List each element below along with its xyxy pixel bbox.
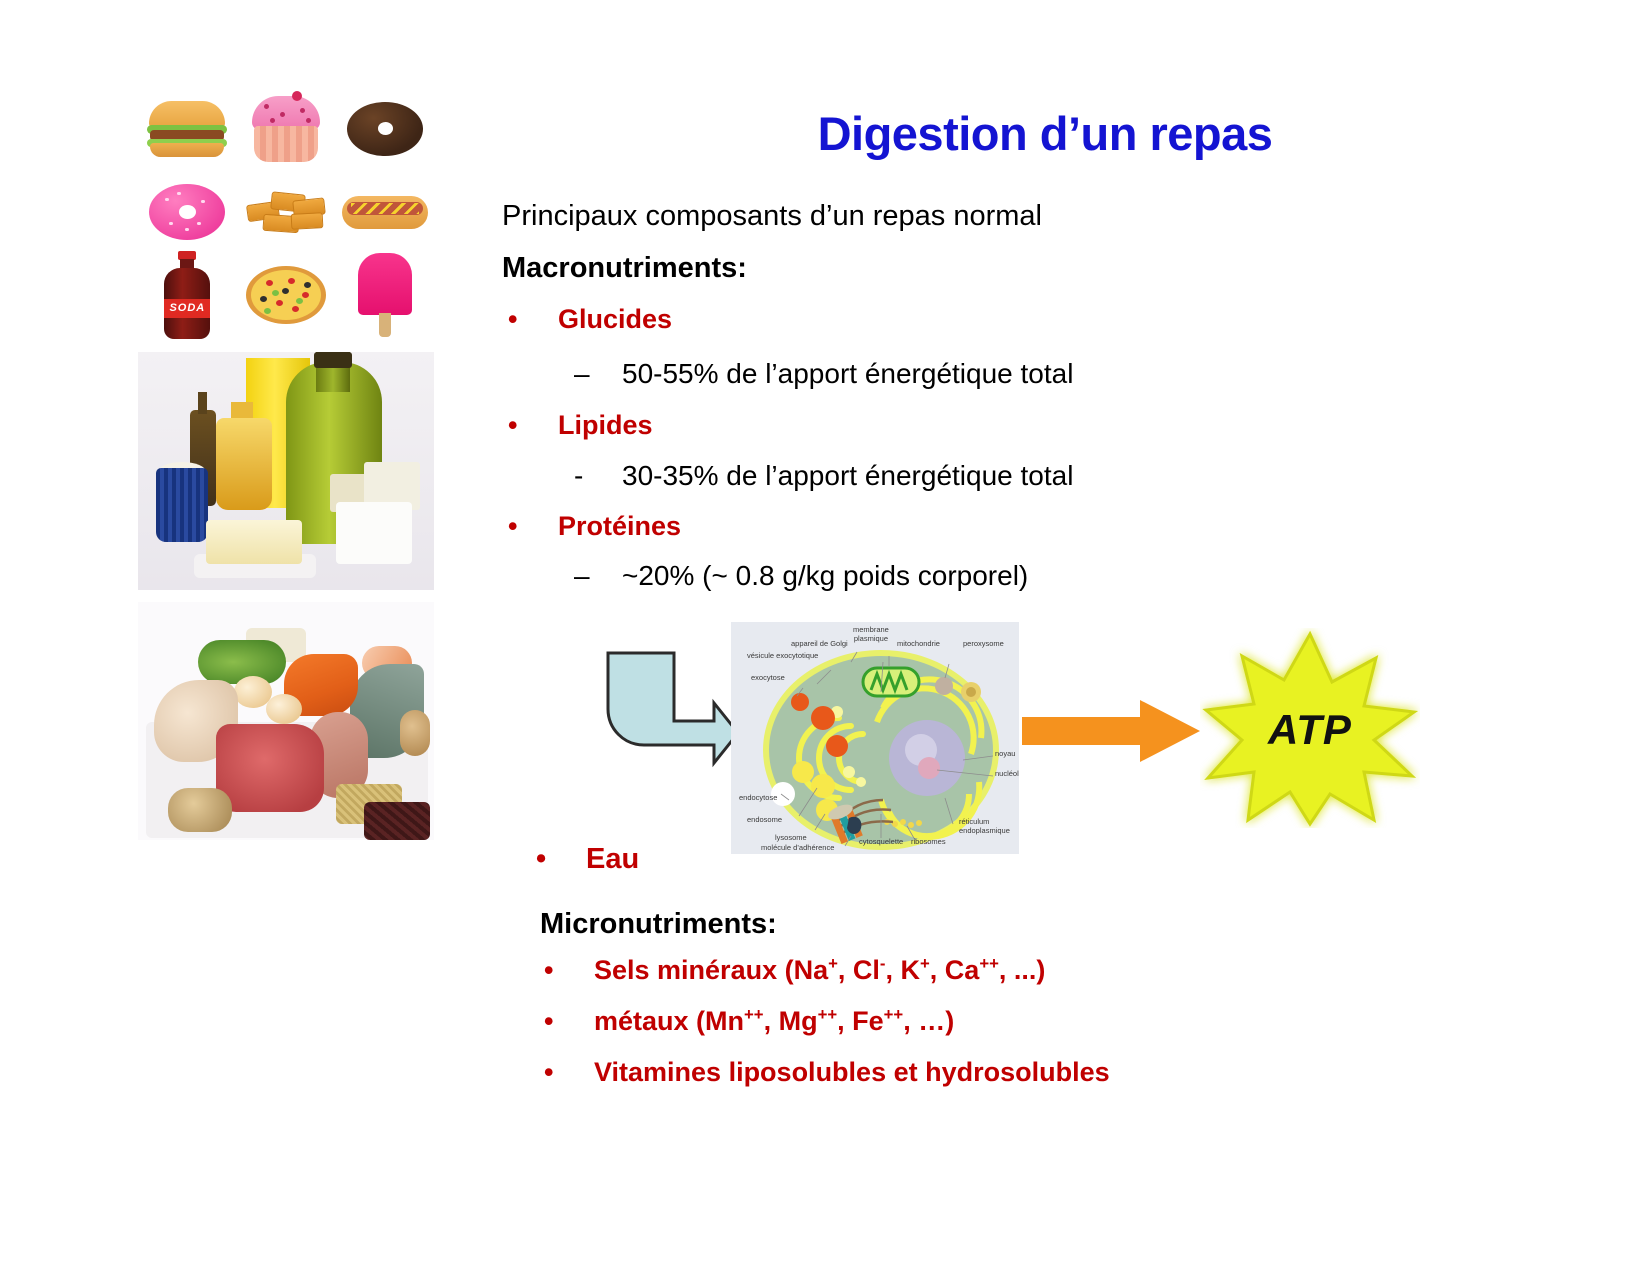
bullet-eau: • Eau xyxy=(586,843,639,876)
pizza-icon xyxy=(237,253,336,336)
right-arrow-icon xyxy=(1022,700,1200,762)
bullet-proteines: • Protéines xyxy=(558,511,681,542)
subtitle: Principaux composants d’un repas normal xyxy=(502,200,1042,233)
detail-glucides: – 50-55% de l’apport énergétique total xyxy=(622,358,1073,390)
eukaryotic-cell-diagram: membrane plasmique appareil de Golgi mit… xyxy=(731,622,1019,854)
cell-label-golgi: appareil de Golgi xyxy=(791,640,848,649)
detail-proteines: – ~20% (~ 0.8 g/kg poids corporel) xyxy=(622,560,1028,592)
dash-icon: – xyxy=(574,560,590,592)
cell-label-cytosquelette: cytosquelette xyxy=(859,838,903,847)
dash-icon: – xyxy=(574,358,590,390)
bullet-metaux-label: métaux (Mn++, Mg++, Fe++, …) xyxy=(594,1006,954,1036)
lipids-foods-photo xyxy=(138,352,434,590)
bullet-dot-icon: • xyxy=(508,410,517,441)
bullet-glucides: • Glucides xyxy=(558,304,672,335)
atp-starburst: ATP xyxy=(1200,628,1420,828)
micronutriments-heading: Micronutriments: xyxy=(540,908,777,941)
cell-label-endosome: endosome xyxy=(747,816,782,825)
bullet-dot-icon: • xyxy=(508,304,517,335)
protein-foods-photo xyxy=(138,602,434,840)
hot-dog-icon xyxy=(335,171,434,254)
bullet-dot-icon: • xyxy=(544,955,553,986)
page-title: Digestion d’un repas xyxy=(500,106,1590,161)
bullet-metaux: • métaux (Mn++, Mg++, Fe++, …) xyxy=(594,1006,954,1037)
bullet-lipides: • Lipides xyxy=(558,410,653,441)
detail-lipides-text: 30-35% de l’apport énergétique total xyxy=(622,460,1073,491)
atp-label: ATP xyxy=(1200,630,1420,830)
cell-label-molecule-adherence: molécule d’adhérence xyxy=(761,844,834,853)
cell-label-vesicule-exocytotique: vésicule exocytotique xyxy=(747,652,818,661)
bullet-vitamines-label: Vitamines liposolubles et hydrosolubles xyxy=(594,1057,1110,1087)
bullet-vitamines: • Vitamines liposolubles et hydrosoluble… xyxy=(594,1057,1110,1088)
cell-label-lysosome: lysosome xyxy=(775,834,807,843)
chocolate-donut-icon xyxy=(335,88,434,171)
bullet-glucides-label: Glucides xyxy=(558,304,672,334)
bullet-sels-mineraux: • Sels minéraux (Na+, Cl-, K+, Ca++, ...… xyxy=(594,955,1045,986)
cell-label-mitochondrie: mitochondrie xyxy=(897,640,940,649)
cell-label-endocytose: endocytose xyxy=(739,794,777,803)
cell-label-exocytose: exocytose xyxy=(751,674,785,683)
soda-bottle-icon: SODA xyxy=(138,253,237,336)
detail-lipides: - 30-35% de l’apport énergétique total xyxy=(622,460,1073,492)
bullet-sels-mineraux-label: Sels minéraux (Na+, Cl-, K+, Ca++, ...) xyxy=(594,955,1045,985)
bullet-eau-label: Eau xyxy=(586,843,639,875)
cell-label-ribosomes: ribosomes xyxy=(911,838,946,847)
detail-proteines-text: ~20% (~ 0.8 g/kg poids corporel) xyxy=(622,560,1028,591)
bullet-dot-icon: • xyxy=(536,843,546,876)
junk-food-illustration-grid: SODA xyxy=(138,88,434,336)
cell-label-reticulum-endoplasmique: réticulum endoplasmique xyxy=(959,818,1010,835)
macronutriments-heading: Macronutriments: xyxy=(502,252,747,285)
bullet-dot-icon: • xyxy=(544,1057,553,1088)
popsicle-icon xyxy=(335,253,434,336)
french-fries-icon xyxy=(237,171,336,254)
cell-label-noyau: noyau xyxy=(995,750,1015,759)
cell-label-membrane-plasmique: membrane plasmique xyxy=(853,626,889,643)
dash-icon: - xyxy=(574,460,583,492)
detail-glucides-text: 50-55% de l’apport énergétique total xyxy=(622,358,1073,389)
hamburger-icon xyxy=(138,88,237,171)
bullet-dot-icon: • xyxy=(508,511,517,542)
soda-label: SODA xyxy=(164,299,210,318)
bullet-dot-icon: • xyxy=(544,1006,553,1037)
bullet-proteines-label: Protéines xyxy=(558,511,681,541)
cell-label-peroxysome: peroxysome xyxy=(963,640,1004,649)
cell-label-nucleole: nucléole xyxy=(995,770,1019,779)
bent-arrow-icon xyxy=(600,645,745,770)
cupcake-icon xyxy=(237,88,336,171)
bullet-lipides-label: Lipides xyxy=(558,410,653,440)
pink-donut-icon xyxy=(138,171,237,254)
